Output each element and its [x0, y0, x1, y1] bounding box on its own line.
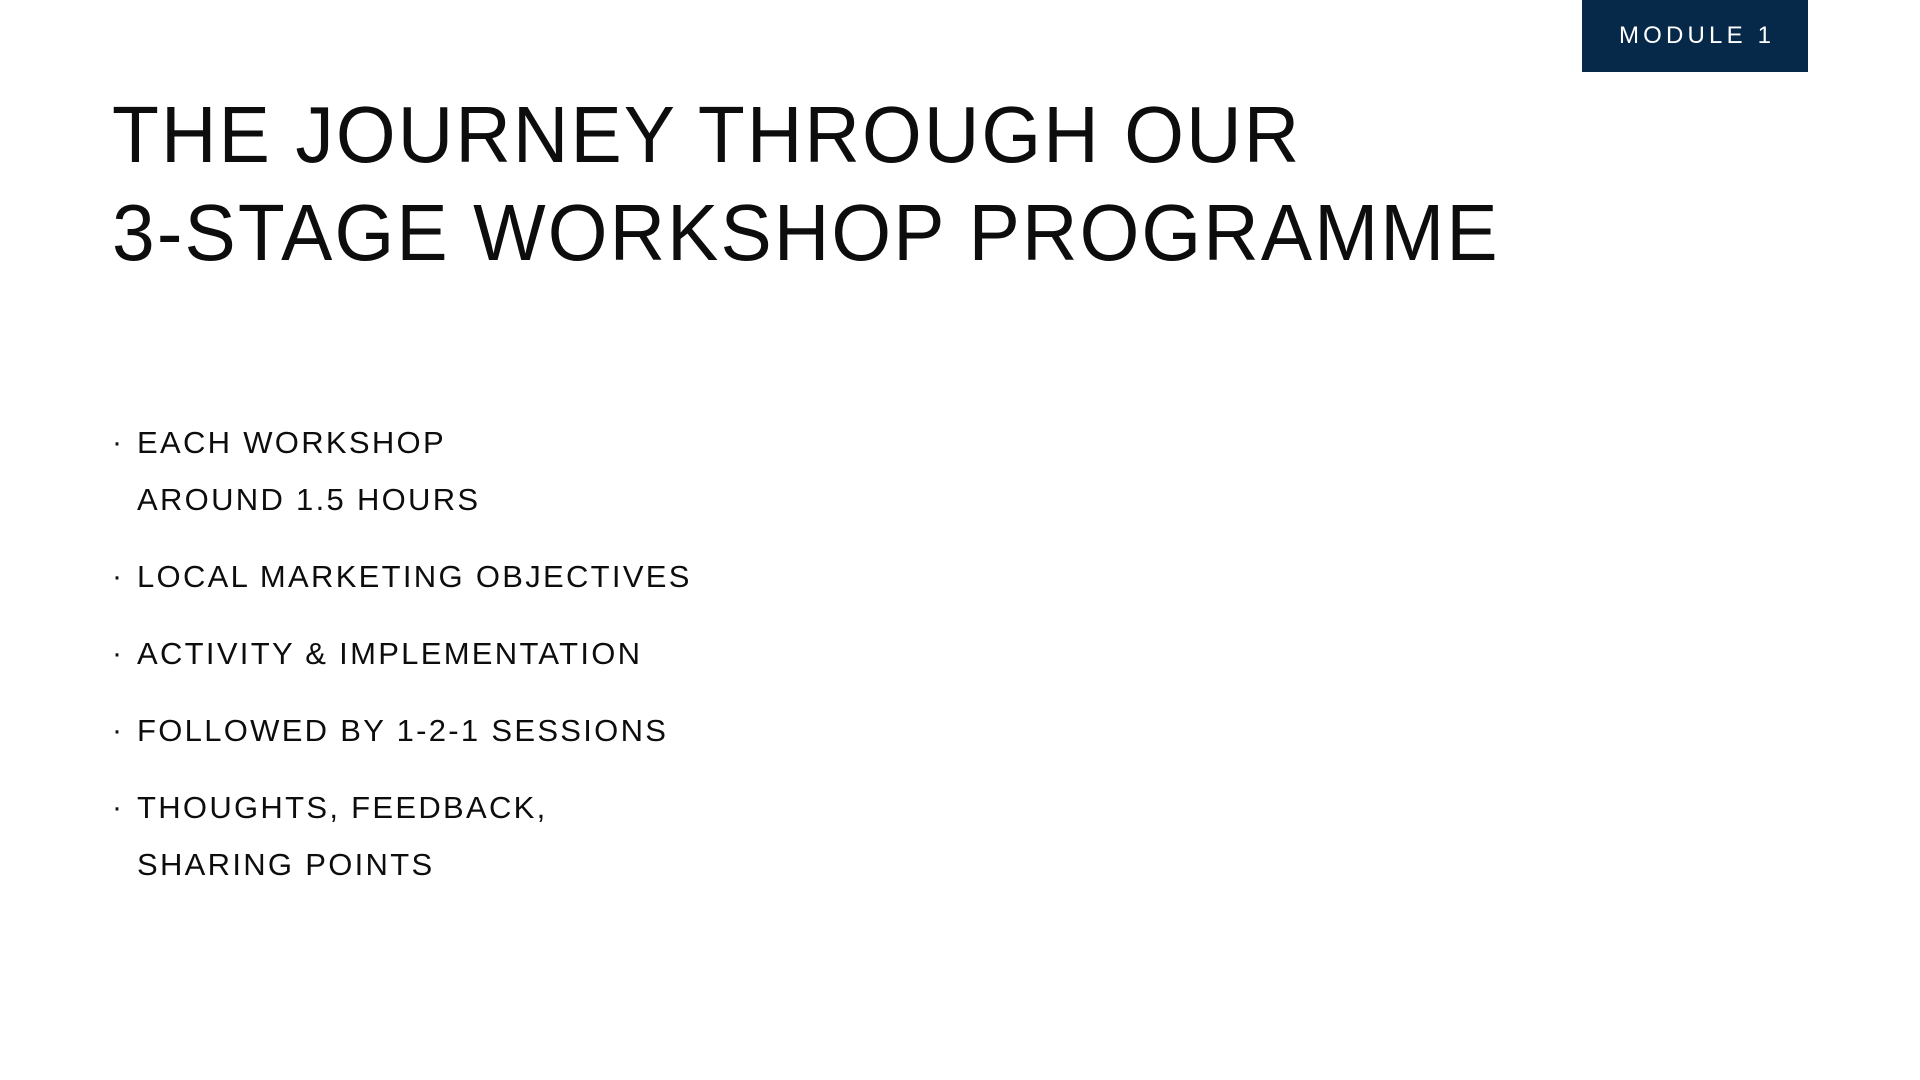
module-badge-label: MODULE 1 — [1615, 24, 1775, 48]
list-item: · EACH WORKSHOP AROUND 1.5 HOURS — [112, 414, 1112, 528]
bullet-dot-icon: · — [112, 779, 137, 836]
bullet-dot-icon: · — [112, 548, 137, 605]
list-item: · ACTIVITY & IMPLEMENTATION — [112, 625, 1112, 682]
page-title-line-2: 3-STAGE WORKSHOP PROGRAMME — [112, 184, 1763, 282]
page-title: THE JOURNEY THROUGH OUR 3-STAGE WORKSHOP… — [112, 86, 1832, 282]
list-item: · FOLLOWED BY 1-2-1 SESSIONS — [112, 702, 1112, 759]
bullet-list: · EACH WORKSHOP AROUND 1.5 HOURS · LOCAL… — [112, 414, 1112, 893]
bullet-dot-icon: · — [112, 414, 137, 471]
list-item-label: THOUGHTS, FEEDBACK, SHARING POINTS — [137, 779, 1112, 893]
list-item-label: LOCAL MARKETING OBJECTIVES — [137, 548, 1112, 605]
list-item: · LOCAL MARKETING OBJECTIVES — [112, 548, 1112, 605]
list-item-label: EACH WORKSHOP AROUND 1.5 HOURS — [137, 414, 1112, 528]
bullet-dot-icon: · — [112, 625, 137, 682]
slide-canvas: MODULE 1 THE JOURNEY THROUGH OUR 3-STAGE… — [0, 0, 1920, 1080]
bullet-dot-icon: · — [112, 702, 137, 759]
module-badge: MODULE 1 — [1582, 0, 1808, 72]
page-title-line-1: THE JOURNEY THROUGH OUR — [112, 86, 1763, 184]
list-item-label: ACTIVITY & IMPLEMENTATION — [137, 625, 1112, 682]
list-item: · THOUGHTS, FEEDBACK, SHARING POINTS — [112, 779, 1112, 893]
list-item-label: FOLLOWED BY 1-2-1 SESSIONS — [137, 702, 1112, 759]
